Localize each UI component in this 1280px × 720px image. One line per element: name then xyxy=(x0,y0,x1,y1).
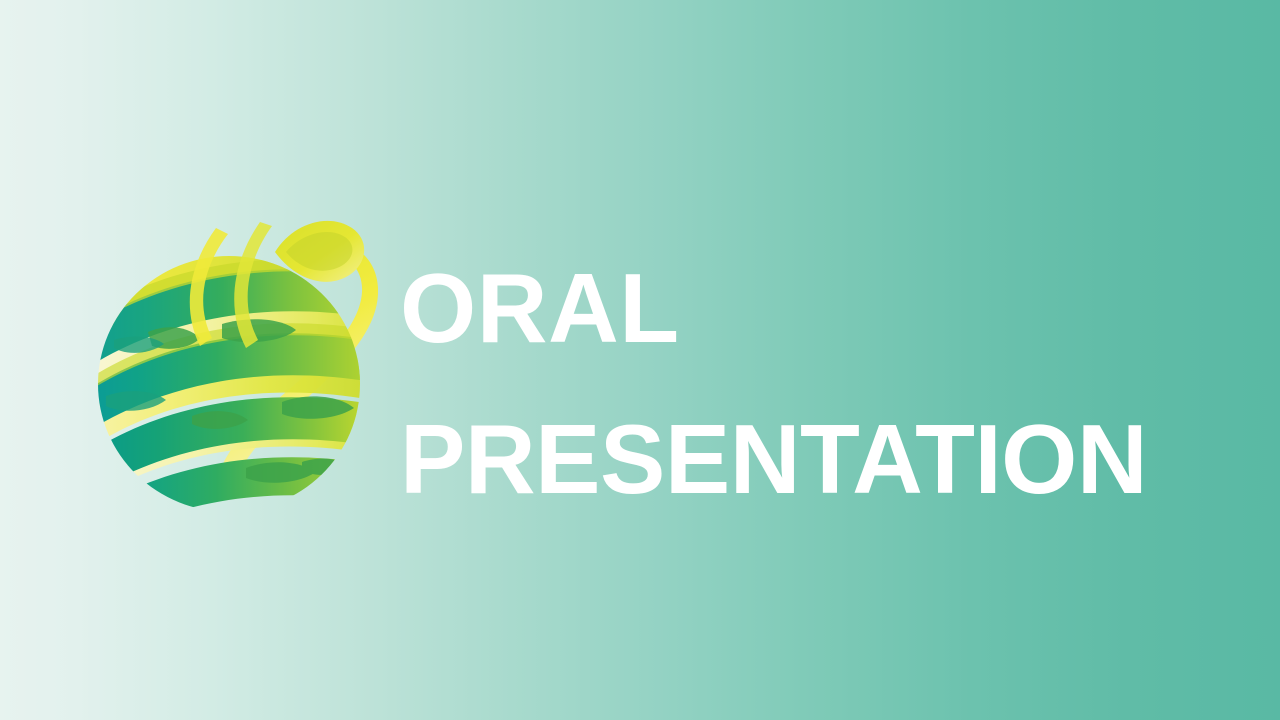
logo-ribbon-bands xyxy=(96,244,372,518)
ribbon-globe-logo xyxy=(96,206,378,518)
title-line-presentation: PRESENTATION xyxy=(400,384,1220,535)
presentation-slide: ORAL PRESENTATION xyxy=(0,0,1280,720)
title-line-oral: ORAL xyxy=(400,233,1220,384)
slide-title: ORAL PRESENTATION xyxy=(400,233,1220,535)
